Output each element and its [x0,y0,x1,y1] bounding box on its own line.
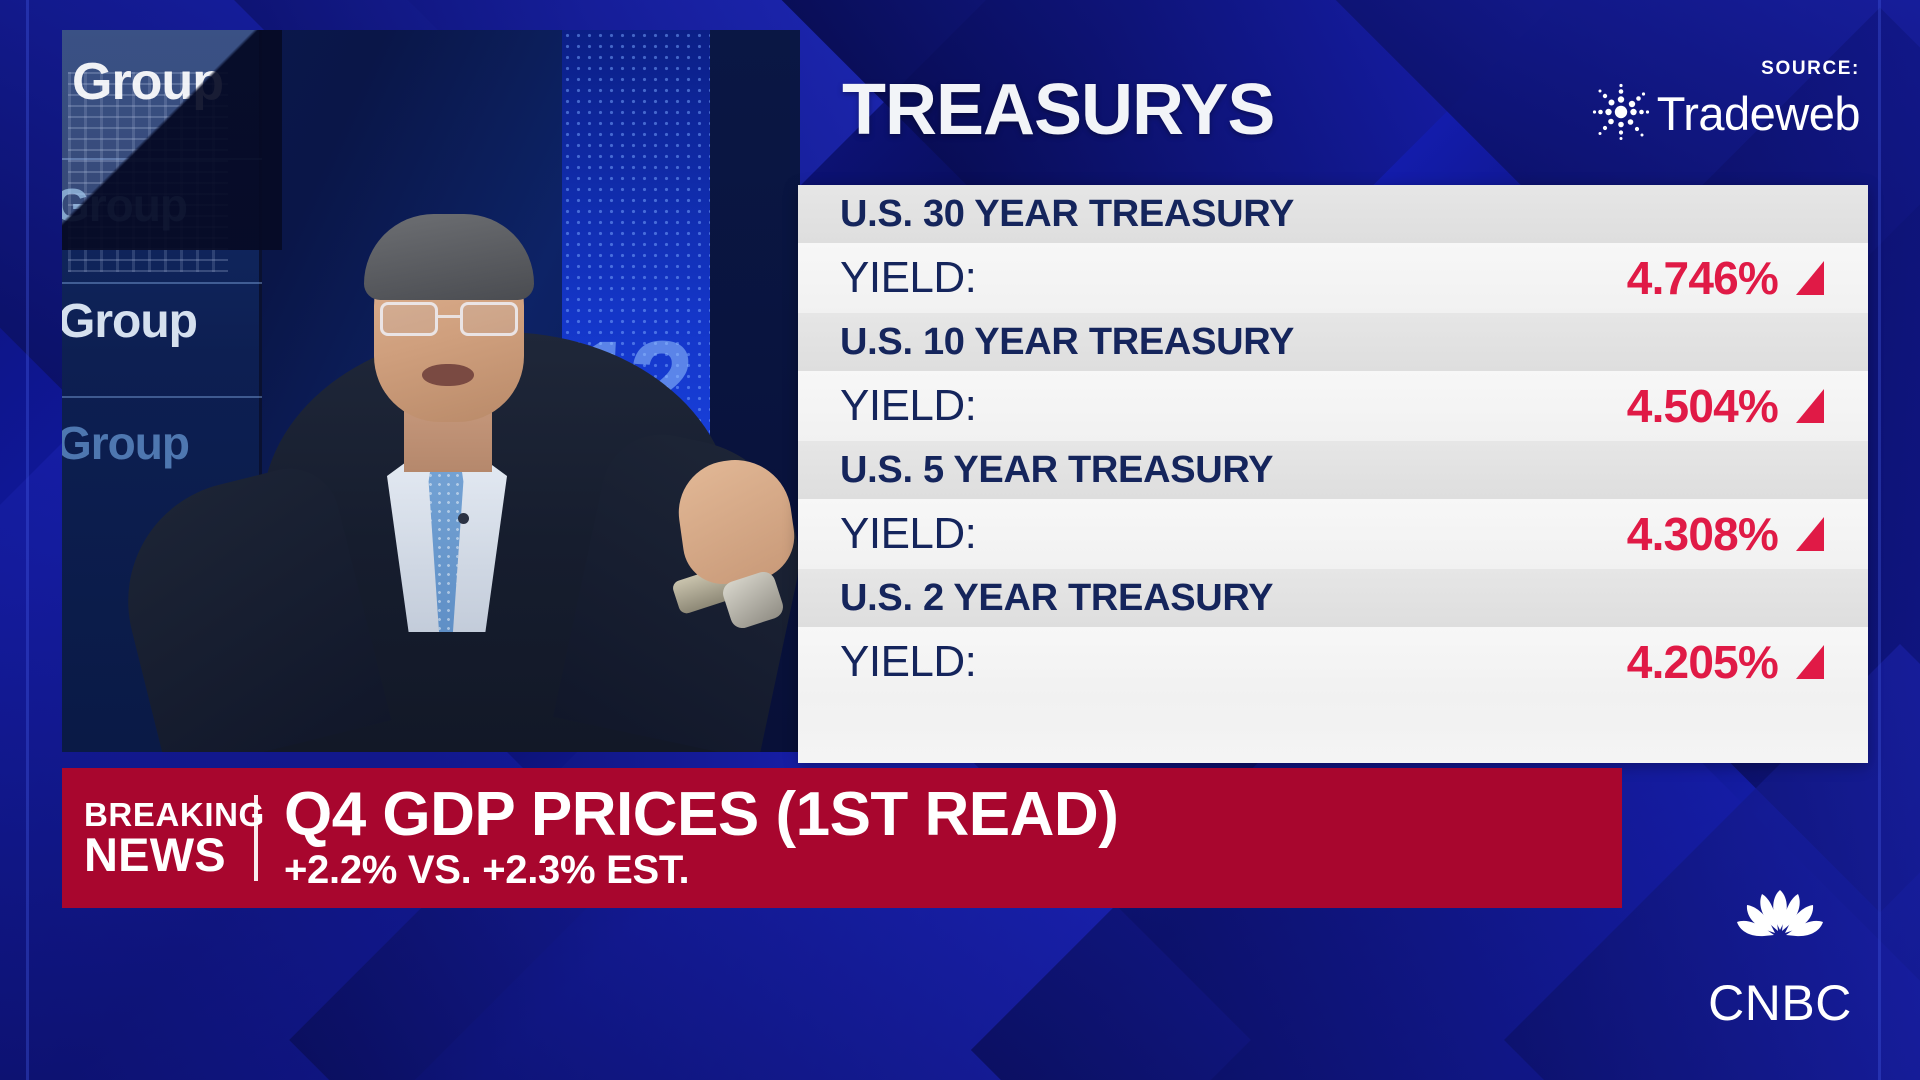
table-footer-space [798,697,1868,763]
treasurys-board: TREASURYS SOURCE: [798,30,1868,146]
cnbc-logo: CNBC [1692,884,1868,1028]
banner-headline: Q4 GDP PRICES (1ST READ) [284,783,1118,847]
glasses-bridge [438,315,460,318]
yield-value-group: 4.504% [1627,379,1824,433]
nbc-peacock-icon [1716,884,1844,976]
backdrop-word: Group [62,416,189,470]
banner-subheadline: +2.2% VS. +2.3% EST. [284,848,1118,893]
source-label: SOURCE: [1591,58,1860,80]
lapel-mic [458,513,469,524]
tradeweb-wordmark: Tradeweb [1657,90,1860,137]
table-row: U.S. 30 YEAR TREASURY YIELD: 4.746% [798,185,1868,313]
treasurys-table: U.S. 30 YEAR TREASURY YIELD: 4.746% U.S.… [798,185,1868,763]
breaking-label-line1: BREAKING [84,799,244,831]
anchor-glasses [380,302,518,336]
tradeweb-burst-icon [1591,82,1653,144]
yield-value-group: 4.205% [1627,635,1824,689]
background-stripe [26,0,29,1080]
source-attribution: SOURCE: Tradeweb [1591,58,1860,144]
table-row: U.S. 2 YEAR TREASURY YIELD: 4.205% [798,569,1868,697]
tradeweb-logo: Tradeweb [1591,82,1860,144]
table-row: U.S. 5 YEAR TREASURY YIELD: 4.308% [798,441,1868,569]
yield-label: YIELD: [840,509,976,559]
yield-value-group: 4.308% [1627,507,1824,561]
treasury-yield-row: YIELD: 4.205% [798,627,1868,697]
treasury-name: U.S. 2 YEAR TREASURY [798,569,1868,627]
treasury-yield-row: YIELD: 4.308% [798,499,1868,569]
banner-divider [254,795,258,881]
breaking-news-banner: BREAKING NEWS Q4 GDP PRICES (1ST READ) +… [62,768,1622,908]
yield-label: YIELD: [840,381,976,431]
yield-value-group: 4.746% [1627,251,1824,305]
table-row: U.S. 10 YEAR TREASURY YIELD: 4.504% [798,313,1868,441]
yield-value: 4.746% [1627,251,1778,305]
treasury-name: U.S. 10 YEAR TREASURY [798,313,1868,371]
treasury-name: U.S. 5 YEAR TREASURY [798,441,1868,499]
anchor-person [212,52,772,752]
yield-label: YIELD: [840,253,976,303]
banner-text-block: Q4 GDP PRICES (1ST READ) +2.2% VS. +2.3%… [284,783,1118,894]
anchor-hair [364,214,534,300]
arrow-up-icon [1796,645,1824,679]
glasses-lens-left [380,302,438,336]
cnbc-wordmark: CNBC [1692,978,1868,1028]
arrow-up-icon [1796,389,1824,423]
treasury-yield-row: YIELD: 4.504% [798,371,1868,441]
treasury-yield-row: YIELD: 4.746% [798,243,1868,313]
treasury-name: U.S. 30 YEAR TREASURY [798,185,1868,243]
arrow-up-icon [1796,261,1824,295]
backdrop-word: Group [62,294,197,349]
background-stripe [1878,0,1881,1080]
yield-value: 4.504% [1627,379,1778,433]
broadcast-screen: 12 Group Group Group Group [0,0,1920,1080]
anchor-mouth [422,364,474,386]
video-feed: 12 Group Group Group Group [62,30,800,752]
yield-label: YIELD: [840,637,976,687]
breaking-news-badge: BREAKING NEWS [62,799,244,878]
yield-value: 4.205% [1627,635,1778,689]
glasses-lens-right [460,302,518,336]
arrow-up-icon [1796,517,1824,551]
yield-value: 4.308% [1627,507,1778,561]
breaking-label-line2: NEWS [84,832,244,878]
